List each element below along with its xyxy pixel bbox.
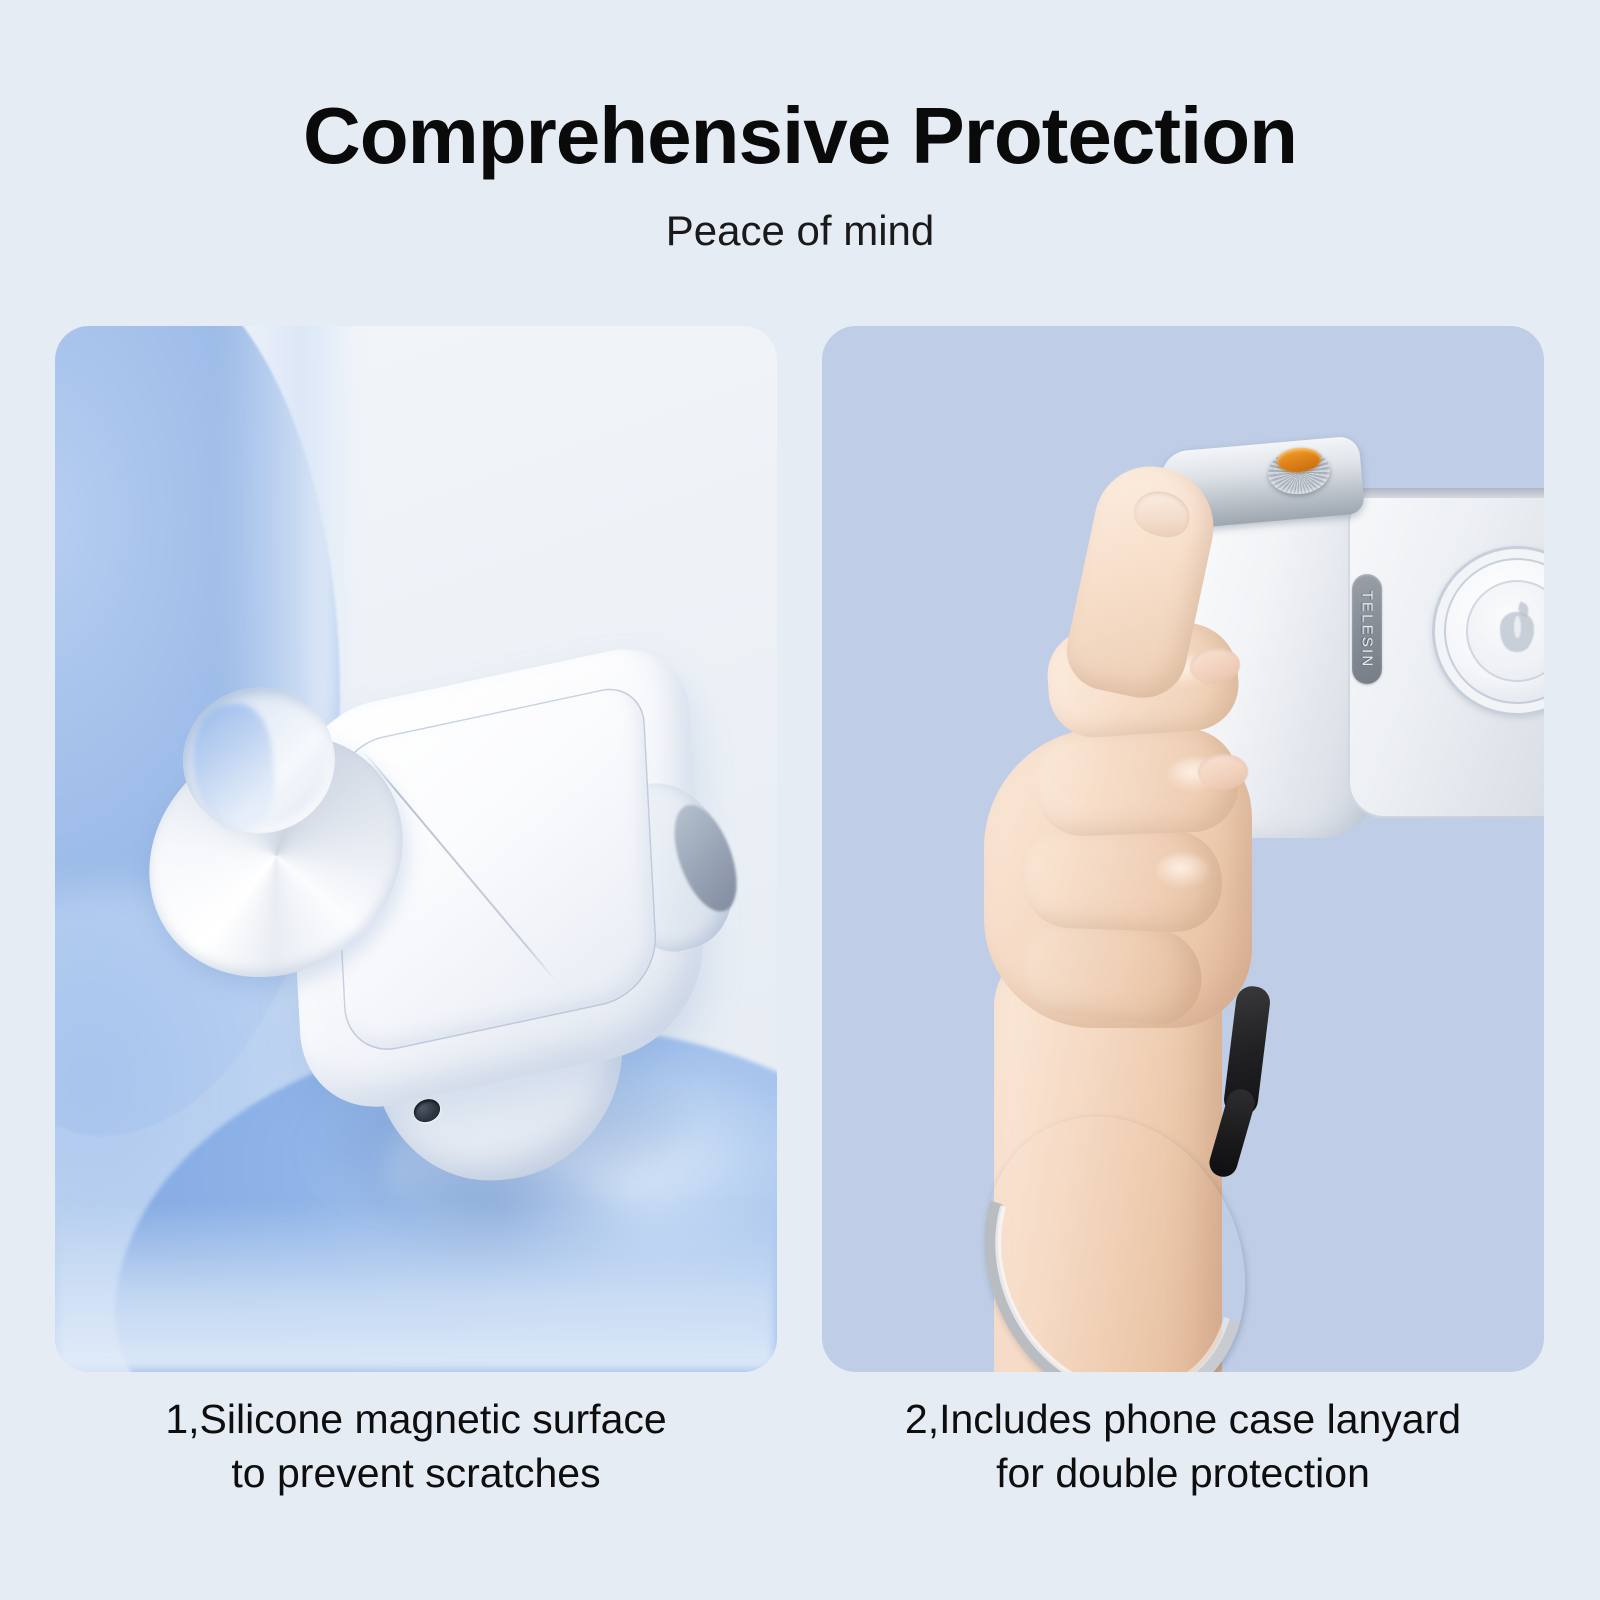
product-scene-left (55, 326, 777, 1372)
product-scene-right: TELESIN (822, 326, 1544, 1372)
caption-line-2: to prevent scratches (55, 1446, 777, 1500)
caption-line-1: 1,Silicone magnetic surface (55, 1392, 777, 1446)
feature-captions: 1,Silicone magnetic surface to prevent s… (55, 1392, 1549, 1500)
feature-panels: TELESIN (55, 326, 1549, 1372)
product-feature-page: Comprehensive Protection Peace of mind (0, 0, 1600, 1600)
silicone-grip-product (115, 597, 746, 1175)
caption-line-1: 2,Includes phone case lanyard (822, 1392, 1544, 1446)
feature-panel-silicone (55, 326, 777, 1372)
page-header: Comprehensive Protection Peace of mind (0, 0, 1600, 252)
page-subtitle: Peace of mind (0, 210, 1600, 252)
feature-panel-lanyard: TELESIN (822, 326, 1544, 1372)
apple-logo-icon (1500, 612, 1534, 652)
page-title: Comprehensive Protection (0, 96, 1600, 176)
hand-holding-grip (962, 476, 1442, 1372)
caption-silicone: 1,Silicone magnetic surface to prevent s… (55, 1392, 777, 1500)
caption-line-2: for double protection (822, 1446, 1544, 1500)
knuckle-highlight (1156, 854, 1210, 888)
cushion-fade (55, 1202, 777, 1372)
caption-lanyard: 2,Includes phone case lanyard for double… (822, 1392, 1544, 1500)
